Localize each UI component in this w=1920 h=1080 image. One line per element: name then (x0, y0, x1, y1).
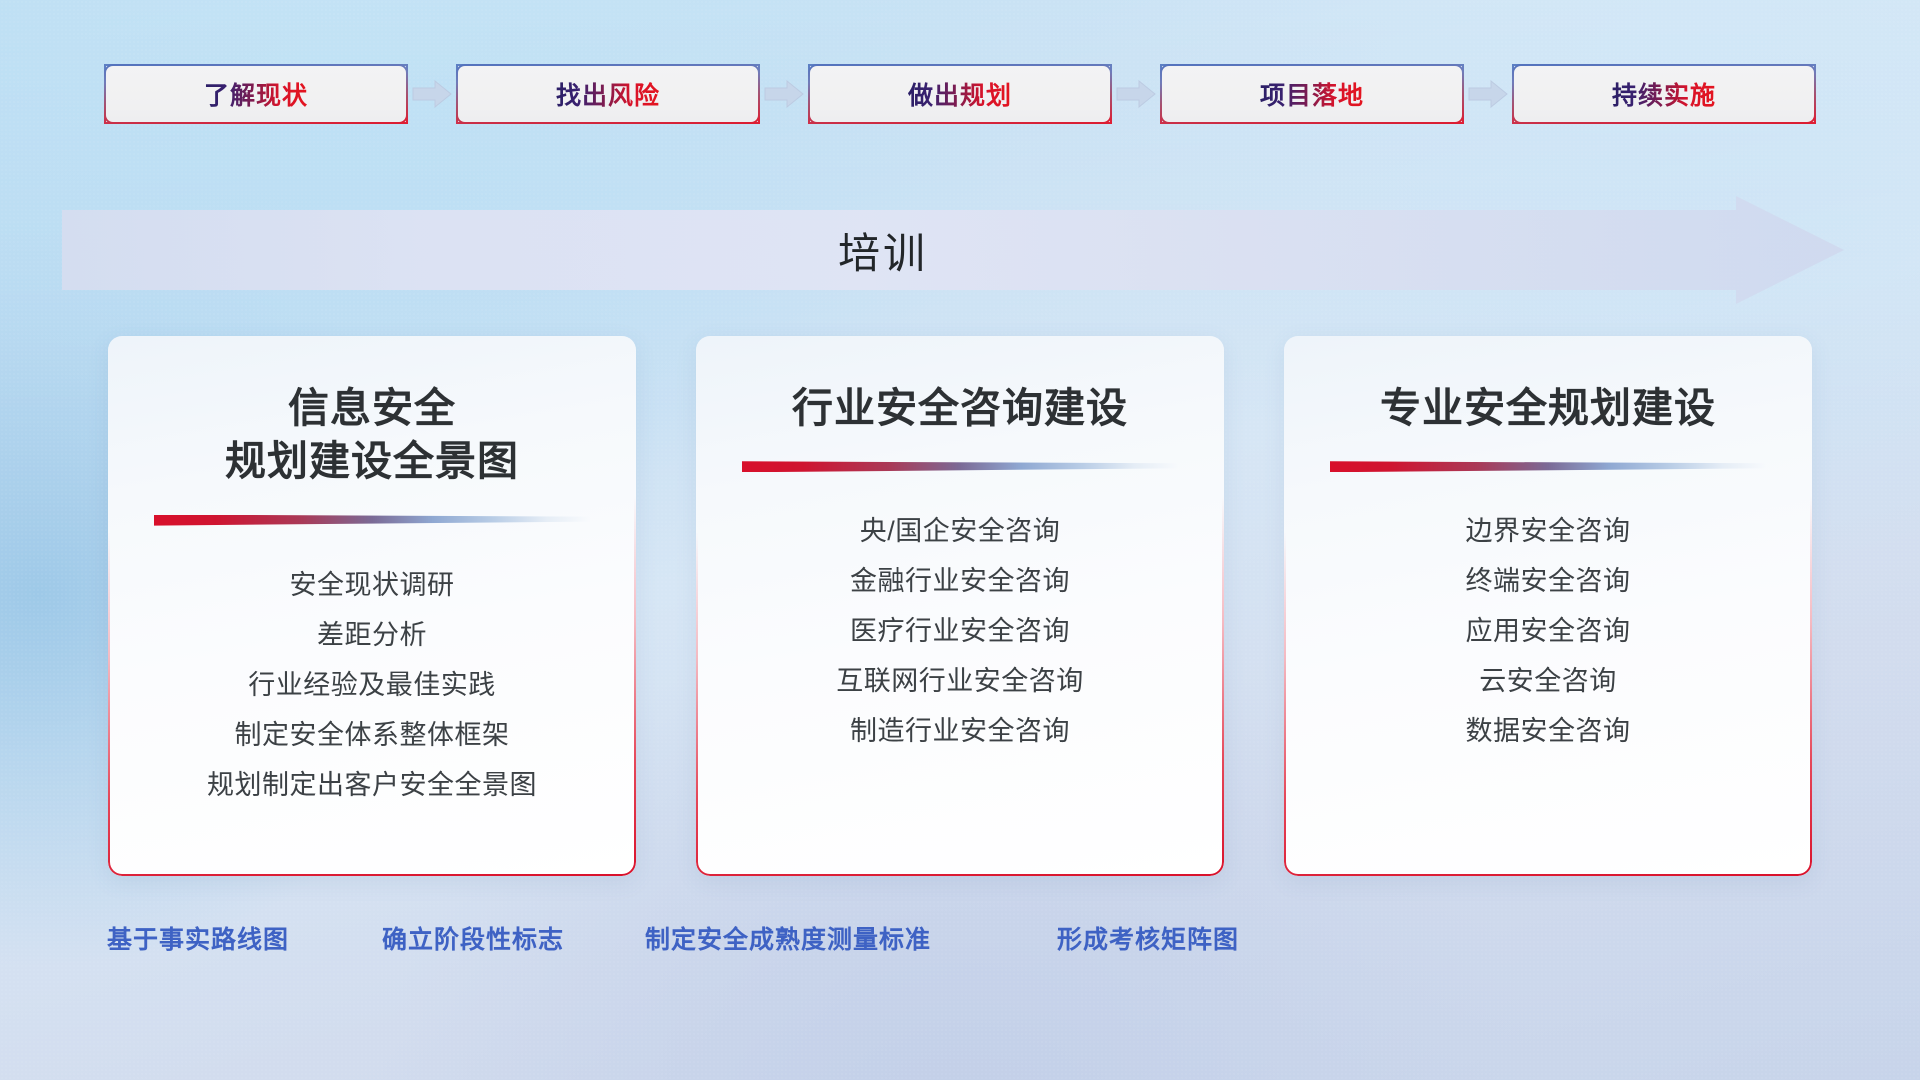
card-item-list: 边界安全咨询 终端安全咨询 应用安全咨询 云安全咨询 数据安全咨询 (1318, 506, 1778, 756)
process-flow: 了解现状 找出风险 做出规划 项目落地 持续实施 (0, 63, 1920, 125)
card-title: 行业安全咨询建设 (730, 382, 1190, 435)
list-item: 医疗行业安全咨询 (850, 606, 1070, 656)
list-item: 安全现状调研 (290, 560, 455, 610)
flow-step-label: 了解现状 (204, 76, 308, 112)
flow-step-3[interactable]: 做出规划 (808, 64, 1112, 124)
training-banner: 培训 (62, 196, 1844, 304)
card-group: 信息安全 规划建设全景图 安全现状调研 差距分析 行业经验及最佳实践 制定安全体… (0, 336, 1920, 876)
caption-assessment-matrix: 形成考核矩阵图 (1057, 920, 1239, 956)
arrow-right-icon (408, 64, 456, 124)
caption-row: 基于事实路线图 确立阶段性标志 制定安全成熟度测量标准 形成考核矩阵图 (0, 920, 1920, 966)
card-item-list: 央/国企安全咨询 金融行业安全咨询 医疗行业安全咨询 互联网行业安全咨询 制造行… (730, 506, 1190, 756)
flow-step-label: 项目落地 (1260, 76, 1364, 112)
card-information-security-blueprint[interactable]: 信息安全 规划建设全景图 安全现状调研 差距分析 行业经验及最佳实践 制定安全体… (108, 336, 636, 876)
arrow-right-icon (760, 64, 808, 124)
arrow-right-icon (1112, 64, 1160, 124)
caption-maturity-metric: 制定安全成熟度测量标准 (645, 920, 931, 956)
list-item: 云安全咨询 (1479, 656, 1617, 706)
list-item: 应用安全咨询 (1466, 606, 1631, 656)
list-item: 制定安全体系整体框架 (235, 710, 510, 760)
list-item: 互联网行业安全咨询 (836, 656, 1084, 706)
card-divider (1330, 461, 1766, 472)
card-professional-security-planning[interactable]: 专业安全规划建设 边界安全咨询 终端安全咨询 应用安全咨询 云安全咨询 数据安全… (1284, 336, 1812, 876)
flow-step-4[interactable]: 项目落地 (1160, 64, 1464, 124)
arrow-right-icon (1464, 64, 1512, 124)
list-item: 制造行业安全咨询 (850, 706, 1070, 756)
flow-step-label: 做出规划 (908, 76, 1012, 112)
list-item: 行业经验及最佳实践 (248, 660, 496, 710)
caption-milestones: 确立阶段性标志 (382, 920, 564, 956)
flow-step-label: 找出风险 (556, 76, 660, 112)
list-item: 央/国企安全咨询 (860, 506, 1061, 556)
card-item-list: 安全现状调研 差距分析 行业经验及最佳实践 制定安全体系整体框架 规划制定出客户… (142, 560, 602, 810)
banner-label: 培训 (62, 196, 1844, 304)
card-divider (742, 461, 1178, 472)
card-industry-security-consulting[interactable]: 行业安全咨询建设 央/国企安全咨询 金融行业安全咨询 医疗行业安全咨询 互联网行… (696, 336, 1224, 876)
list-item: 金融行业安全咨询 (850, 556, 1070, 606)
caption-roadmap: 基于事实路线图 (107, 920, 289, 956)
flow-step-1[interactable]: 了解现状 (104, 64, 408, 124)
flow-step-5[interactable]: 持续实施 (1512, 64, 1816, 124)
card-title: 专业安全规划建设 (1318, 382, 1778, 435)
flow-step-2[interactable]: 找出风险 (456, 64, 760, 124)
flow-step-label: 持续实施 (1612, 76, 1716, 112)
list-item: 差距分析 (317, 610, 427, 660)
list-item: 边界安全咨询 (1466, 506, 1631, 556)
list-item: 数据安全咨询 (1466, 706, 1631, 756)
card-divider (154, 515, 590, 526)
card-title: 信息安全 规划建设全景图 (142, 382, 602, 489)
list-item: 终端安全咨询 (1466, 556, 1631, 606)
list-item: 规划制定出客户安全全景图 (207, 760, 537, 810)
